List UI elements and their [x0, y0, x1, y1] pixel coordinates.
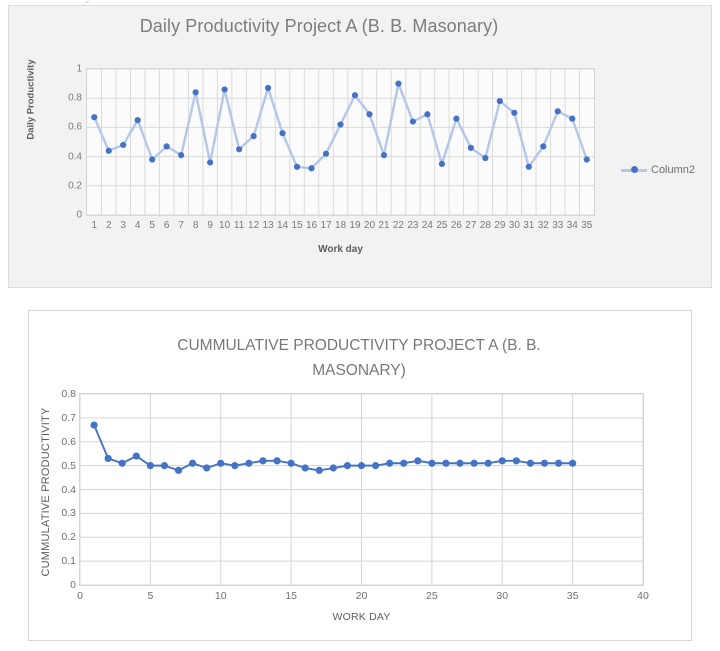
x-tick-label: 14: [277, 220, 288, 231]
y-tick-label: 0.1: [61, 555, 76, 567]
x-tick-label: 25: [436, 220, 447, 231]
daily-chart-y-axis-title: Daily Productivity: [26, 40, 37, 160]
y-tick-label: 1: [76, 64, 82, 75]
cumulative-chart-title: CUMMULATIVE PRODUCTIVITY PROJECT A (B. B…: [89, 333, 629, 383]
cumulative-chart-plot-area[interactable]: [79, 393, 644, 586]
x-tick-label: 30: [496, 590, 508, 602]
x-tick-label: 22: [393, 220, 404, 231]
x-tick-label: 6: [164, 220, 170, 231]
x-tick-label: 0: [77, 590, 83, 602]
x-tick-label: 5: [147, 590, 153, 602]
cumulative-chart-y-axis-ticks: 0.80.70.60.50.40.30.20.10: [46, 387, 76, 592]
x-tick-label: 9: [207, 220, 213, 231]
x-tick-label: 33: [552, 220, 563, 231]
x-tick-label: 19: [349, 220, 360, 231]
x-tick-label: 24: [422, 220, 433, 231]
x-tick-label: 28: [480, 220, 491, 231]
x-tick-label: 35: [567, 590, 579, 602]
y-tick-label: 0.2: [61, 531, 76, 543]
x-tick-label: 20: [356, 590, 368, 602]
x-tick-label: 12: [248, 220, 259, 231]
daily-chart-legend[interactable]: Column2: [621, 164, 695, 176]
daily-chart-series-svg: [87, 69, 594, 215]
y-tick-label: 0: [70, 579, 76, 591]
x-tick-label: 18: [335, 220, 346, 231]
cumulative-chart-x-axis-ticks: 0510152025303540: [79, 590, 644, 606]
x-tick-label: 15: [291, 220, 302, 231]
x-tick-label: 4: [135, 220, 141, 231]
daily-chart-y-axis-ticks: 10.80.60.40.20: [56, 61, 82, 223]
screenshot-root: ▫ Daily Productivity Project A (B. B. Ma…: [0, 0, 720, 651]
y-tick-label: 0: [76, 210, 82, 221]
y-tick-label: 0.2: [68, 180, 82, 191]
x-tick-label: 10: [219, 220, 230, 231]
x-tick-label: 30: [509, 220, 520, 231]
x-tick-label: 25: [426, 590, 438, 602]
cumulative-chart-title-line2: MASONARY): [89, 358, 629, 383]
y-tick-label: 0.7: [61, 412, 76, 424]
cumulative-productivity-chart-panel[interactable]: CUMMULATIVE PRODUCTIVITY PROJECT A (B. B…: [28, 310, 692, 641]
y-tick-label: 0.4: [61, 484, 76, 496]
cumulative-chart-x-axis-title: WORK DAY: [79, 611, 644, 623]
legend-line-marker-icon: [621, 169, 647, 172]
x-tick-label: 31: [523, 220, 534, 231]
x-tick-label: 27: [465, 220, 476, 231]
daily-productivity-chart-panel[interactable]: Daily Productivity Project A (B. B. Maso…: [8, 5, 712, 288]
legend-entry-label: Column2: [651, 164, 695, 176]
x-tick-label: 7: [178, 220, 184, 231]
x-tick-label: 29: [494, 220, 505, 231]
x-tick-label: 5: [149, 220, 155, 231]
x-tick-label: 11: [234, 220, 244, 231]
y-tick-label: 0.3: [61, 507, 76, 519]
daily-chart-x-axis-ticks: 1234567891011121314151617181920212223242…: [86, 220, 595, 236]
x-tick-label: 40: [637, 590, 649, 602]
daily-chart-x-axis-title: Work day: [86, 244, 595, 255]
x-tick-label: 23: [407, 220, 418, 231]
x-tick-label: 21: [378, 220, 389, 231]
y-tick-label: 0.6: [68, 122, 82, 133]
x-tick-label: 35: [581, 220, 592, 231]
cumulative-chart-title-line1: CUMMULATIVE PRODUCTIVITY PROJECT A (B. B…: [89, 333, 629, 358]
daily-chart-title: Daily Productivity Project A (B. B. Maso…: [9, 16, 629, 37]
cumulative-chart-series-svg: [80, 394, 643, 585]
x-tick-label: 2: [106, 220, 112, 231]
x-tick-label: 17: [320, 220, 331, 231]
x-tick-label: 32: [538, 220, 549, 231]
x-tick-label: 3: [120, 220, 126, 231]
y-tick-label: 0.5: [61, 460, 76, 472]
x-tick-label: 15: [285, 590, 297, 602]
x-tick-label: 26: [451, 220, 462, 231]
x-tick-label: 16: [306, 220, 317, 231]
y-tick-label: 0.8: [61, 388, 76, 400]
x-tick-label: 8: [193, 220, 199, 231]
y-tick-label: 0.4: [68, 151, 82, 162]
x-tick-label: 34: [567, 220, 578, 231]
y-tick-label: 0.6: [61, 436, 76, 448]
daily-chart-plot-area[interactable]: [86, 68, 595, 216]
x-tick-label: 1: [91, 220, 97, 231]
x-tick-label: 10: [215, 590, 227, 602]
x-tick-label: 20: [364, 220, 375, 231]
y-tick-label: 0.8: [68, 93, 82, 104]
x-tick-label: 13: [263, 220, 274, 231]
